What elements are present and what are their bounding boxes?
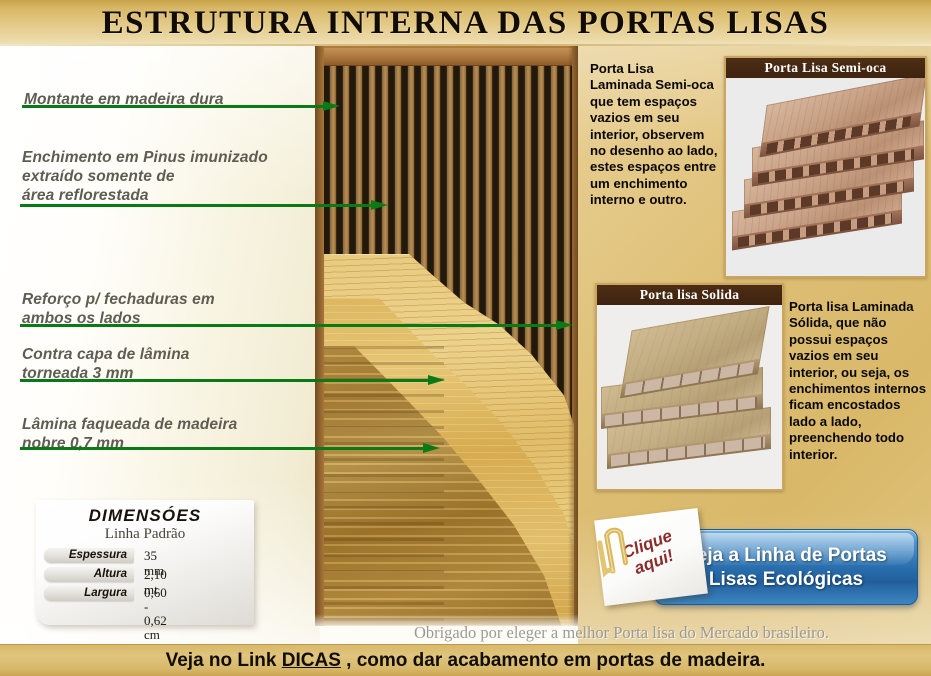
right-arrow-icon [371,200,388,210]
dimensions-row-key: Espessura [44,548,134,563]
dimensions-subtitle: Linha Padrão [36,526,254,543]
arrow-montante [22,101,340,111]
solida-panel-stack [597,305,782,489]
bottom-bar-prefix: Veja no Link [166,650,282,671]
door-cutaway-illustration [315,46,578,626]
door-top-rail [324,48,572,66]
solida-photo-caption: Porta lisa Solida [597,285,782,305]
dimensions-title: DIMENSÓES [36,506,254,526]
page-title: ESTRUTURA INTERNA DAS PORTAS LISAS [0,2,931,44]
poster-title-bar: ESTRUTURA INTERNA DAS PORTAS LISAS [0,0,931,46]
semi-oca-description: Porta Lisa Laminada Semi-oca que tem esp… [590,61,718,209]
dimensions-card: DIMENSÓES Linha Padrão Espessura 35 mm A… [36,500,254,625]
dicas-link[interactable]: DICAS [282,650,341,671]
right-arrow-icon [423,443,440,453]
right-arrow-icon [323,101,340,111]
bottom-bar: Veja no Link DICAS , como dar acabamento… [0,644,931,676]
arrow-enchimento [20,200,388,210]
poster-root: ESTRUTURA INTERNA DAS PORTAS LISAS Monta… [0,0,931,676]
solida-photo: Porta lisa Solida [595,283,784,491]
thanks-text: Obrigado por eleger a melhor Porta lisa … [312,623,931,643]
bottom-bar-suffix: , como dar acabamento em portas de madei… [341,650,765,671]
dimensions-row-key: Altura [44,567,134,582]
semi-oca-photo: Porta Lisa Semi-oca [724,56,927,278]
label-enchimento: Enchimento em Pinus imunizado extraído s… [22,148,312,205]
right-arrow-icon [428,375,445,385]
dimensions-row-key: Largura [44,586,134,601]
arrow-contra-capa [20,375,445,385]
arrow-lamina [20,443,440,453]
semi-oca-photo-caption: Porta Lisa Semi-oca [726,58,925,78]
semi-oca-panel-stack [726,78,925,276]
arrow-reforco [20,320,573,330]
right-arrow-icon [556,320,573,330]
solida-description: Porta lisa Laminada Sólida, que não poss… [789,299,929,463]
door-veneer-grain [324,346,444,626]
